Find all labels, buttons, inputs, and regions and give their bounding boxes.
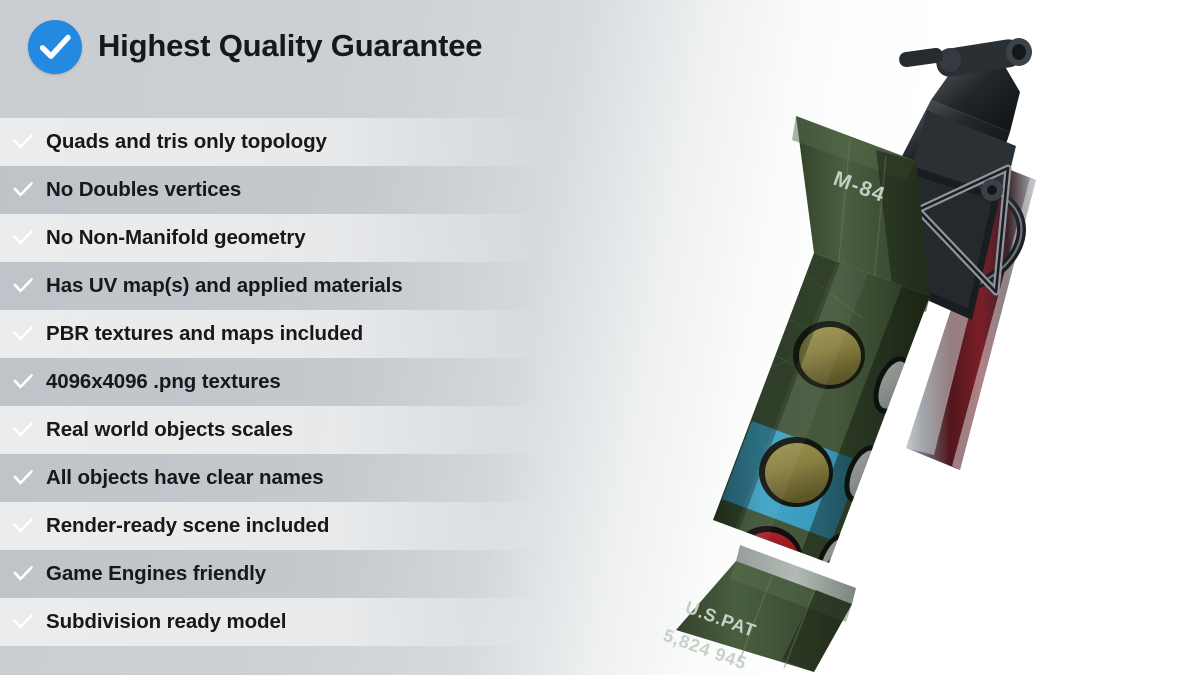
feature-list: Quads and tris only topology No Doubles … [0,118,600,646]
check-circle-icon [28,20,82,74]
check-icon [0,274,46,298]
list-item-label: Quads and tris only topology [46,130,327,154]
list-item-label: PBR textures and maps included [46,322,363,346]
check-icon [0,466,46,490]
list-item-label: Has UV map(s) and applied materials [46,274,403,298]
page-title: Highest Quality Guarantee [98,28,482,64]
list-item-label: Real world objects scales [46,418,293,442]
promo-banner: Highest Quality Guarantee Quads and tris… [0,0,1200,675]
check-icon [0,562,46,586]
port-left-upper [715,296,770,368]
grenade-body [656,253,930,596]
list-item: Game Engines friendly [0,550,545,598]
port-left-middle [685,384,740,456]
list-item: 4096x4096 .png textures [0,358,545,406]
list-item-label: No Non-Manifold geometry [46,226,306,250]
product-render: M-84 [600,0,1200,675]
list-item-label: Render-ready scene included [46,514,329,538]
check-icon [0,370,46,394]
list-item: Quads and tris only topology [0,118,545,166]
list-item-label: 4096x4096 .png textures [46,370,281,394]
check-icon [0,418,46,442]
list-item-label: All objects have clear names [46,466,324,490]
list-item: Subdivision ready model [0,598,545,646]
list-item-label: No Doubles vertices [46,178,241,202]
feature-panel: Highest Quality Guarantee Quads and tris… [0,0,600,675]
list-item-label: Game Engines friendly [46,562,266,586]
grenade-illustration: M-84 [600,0,1200,675]
port-left-lower [656,472,711,544]
check-icon [0,322,46,346]
list-item: Has UV map(s) and applied materials [0,262,545,310]
list-item: All objects have clear names [0,454,545,502]
check-icon [0,610,46,634]
check-icon [0,178,46,202]
panel-header: Highest Quality Guarantee [0,0,600,118]
list-item: Render-ready scene included [0,502,545,550]
check-icon [0,514,46,538]
list-item: Real world objects scales [0,406,545,454]
list-item-label: Subdivision ready model [46,610,286,634]
list-item: PBR textures and maps included [0,310,545,358]
list-item: No Doubles vertices [0,166,545,214]
check-icon [0,130,46,154]
list-item: No Non-Manifold geometry [0,214,545,262]
check-icon [0,226,46,250]
